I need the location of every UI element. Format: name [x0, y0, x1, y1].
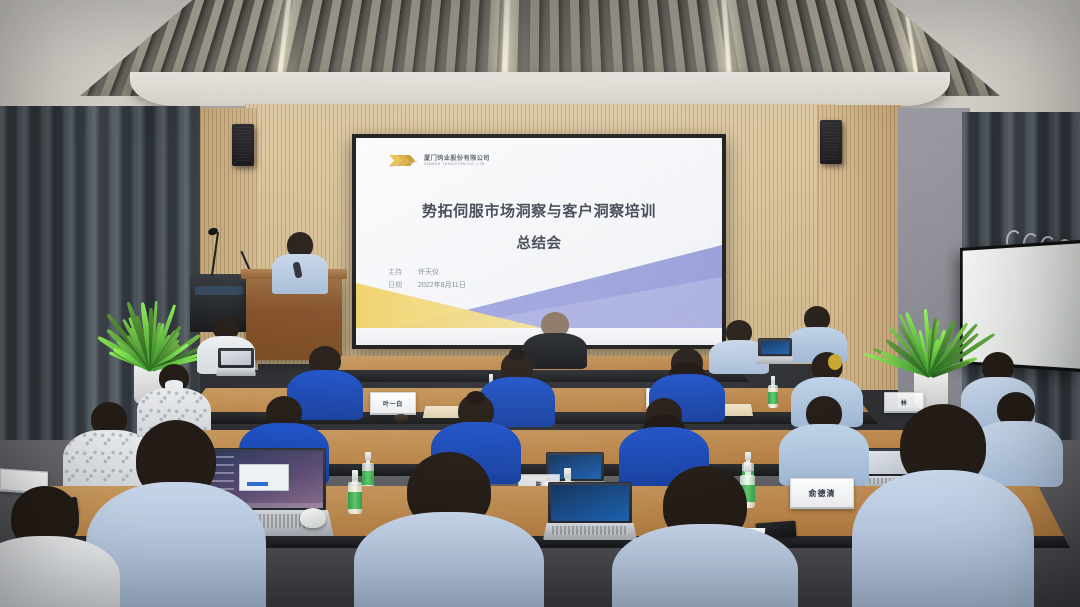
namecard-text: 俞德清	[809, 488, 836, 499]
slide-meta: 主持 许天仪 日期 2022年8月11日	[388, 266, 466, 293]
namecard-text: 叶一白	[383, 399, 403, 408]
bottle-label	[768, 392, 778, 404]
ceiling-soffit	[130, 72, 950, 106]
foreground-attendee-center	[354, 452, 544, 607]
slide-meta-date-value: 2022年8月11日	[418, 279, 466, 292]
logo-company-cn: 厦门钨业股份有限公司	[424, 155, 490, 162]
laptop-lid	[218, 348, 254, 368]
computer-mouse[interactable]	[300, 508, 326, 528]
wall-speaker-left	[232, 124, 254, 166]
bottle-cap	[771, 376, 776, 383]
logo-company-en: XIAMEN TUNGSTEN CO.,LTD.	[424, 162, 490, 166]
namecard-right-front[interactable]: 俞德清	[790, 478, 854, 509]
cup-1	[394, 414, 408, 422]
laptop-screen	[221, 351, 251, 365]
slide-meta-host-value: 许天仪	[418, 266, 439, 279]
slide-meta-date-row: 日期 2022年8月11日	[388, 279, 466, 292]
wall-speaker-right	[820, 120, 842, 164]
slide-watermark: www.cxtc.com	[667, 318, 705, 323]
laptop-base	[216, 368, 256, 376]
attendee-hair-bun	[509, 348, 525, 360]
laptop-far-right	[758, 338, 792, 364]
bottle-cap	[564, 468, 571, 478]
attendee-body	[0, 536, 120, 607]
foreground-attendee-far-right	[852, 404, 1034, 607]
water-bottle-2[interactable]	[768, 376, 778, 408]
slide-meta-date-key: 日期	[388, 279, 410, 292]
foreground-attendee-right	[612, 466, 798, 607]
conference-room-photo: 厦门钨业股份有限公司 XIAMEN TUNGSTEN CO.,LTD. 势拓伺服…	[0, 0, 1080, 607]
slide-subtitle: 总结会	[356, 232, 722, 253]
presenter	[270, 232, 330, 290]
company-logo: 厦门钨业股份有限公司 XIAMEN TUNGSTEN CO.,LTD.	[388, 154, 490, 167]
ceiling	[0, 0, 1080, 118]
slide-title: 势拓伺服市场洞察与客户洞察培训	[356, 200, 722, 221]
laptop-lid	[758, 338, 792, 357]
attendee-body	[354, 512, 544, 607]
laptop-screen	[761, 341, 789, 354]
attendee-hair-bun	[467, 391, 486, 405]
namecard-center-left[interactable]: 叶一白	[370, 392, 416, 415]
plant-foliage-left	[96, 276, 208, 370]
logo-chevron-icon	[388, 154, 418, 167]
laptop-base	[756, 356, 794, 364]
bottle-cap	[745, 452, 751, 460]
foreground-attendee-edge-left	[0, 486, 120, 607]
attendee-body	[852, 470, 1034, 607]
slide-meta-host-key: 主持	[388, 266, 410, 279]
laptop-far-left	[218, 348, 254, 376]
attendee-body	[612, 524, 798, 607]
slide-meta-host-row: 主持 许天仪	[388, 266, 466, 279]
